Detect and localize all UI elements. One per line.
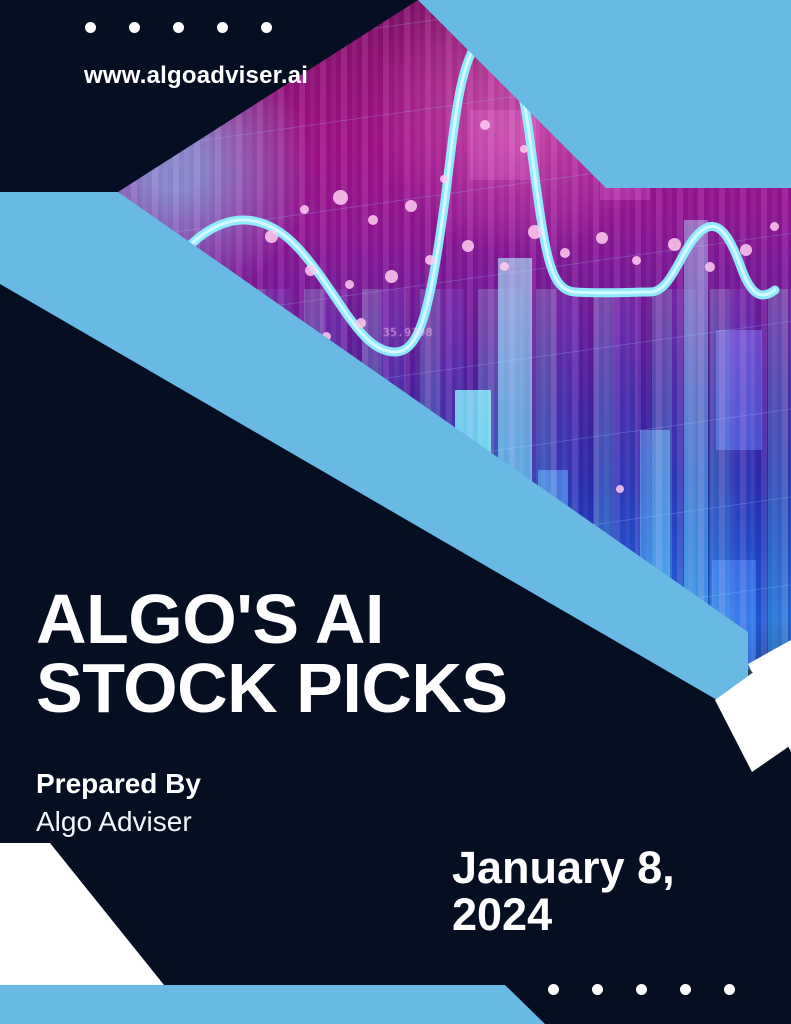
chart-annotation-value: 35.9398 — [383, 326, 433, 339]
prepared-by-label: Prepared By — [36, 768, 201, 800]
decor-dot — [173, 22, 184, 33]
decor-dot — [129, 22, 140, 33]
bokeh-dot — [500, 262, 509, 271]
bokeh-dot — [462, 240, 474, 252]
decor-dot — [217, 22, 228, 33]
chart-column — [716, 330, 762, 450]
top-blue-angle — [418, 0, 791, 188]
bokeh-dot — [668, 238, 681, 251]
bokeh-dot — [333, 190, 348, 205]
decor-dot — [636, 984, 647, 995]
report-date: January 8, 2024 — [452, 845, 752, 939]
title-line-2: STOCK PICKS — [36, 654, 636, 723]
bokeh-dot — [596, 232, 608, 244]
bokeh-dot — [300, 205, 309, 214]
bokeh-dot — [770, 222, 779, 231]
decor-dot — [261, 22, 272, 33]
report-cover-page: 35.9398 60.8067 12.001 www.algoadviser.a… — [0, 0, 791, 1024]
bokeh-dot — [528, 225, 542, 239]
bokeh-dot — [405, 200, 417, 212]
decor-dot — [592, 984, 603, 995]
website-url[interactable]: www.algoadviser.ai — [84, 62, 308, 90]
bokeh-dot — [616, 485, 624, 493]
top-dot-row — [85, 22, 272, 33]
title-line-1: ALGO'S AI — [36, 585, 636, 654]
decor-dot — [680, 984, 691, 995]
bokeh-dot — [345, 280, 354, 289]
bottom-dot-row — [548, 984, 735, 995]
page-title: ALGO'S AI STOCK PICKS — [36, 585, 636, 722]
bokeh-dot — [305, 265, 316, 276]
decor-dot — [548, 984, 559, 995]
bokeh-dot — [425, 255, 435, 265]
bokeh-dot — [385, 270, 398, 283]
author-name: Algo Adviser — [36, 806, 192, 838]
bokeh-dot — [368, 215, 378, 225]
bokeh-dot — [705, 262, 715, 272]
bokeh-dot — [740, 244, 752, 256]
bokeh-dot — [632, 256, 641, 265]
bokeh-dot — [560, 248, 570, 258]
decor-dot — [85, 22, 96, 33]
decor-dot — [724, 984, 735, 995]
bokeh-dot — [265, 230, 278, 243]
bokeh-dot — [356, 318, 366, 328]
